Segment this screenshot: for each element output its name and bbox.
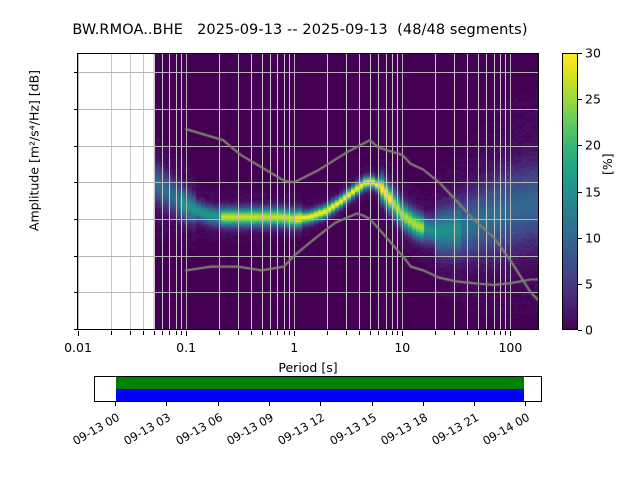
colorbar-tick: [578, 53, 582, 54]
x-axis-tick: [454, 331, 455, 335]
x-axis-tick: [78, 331, 79, 336]
x-axis-title: Period [s]: [77, 360, 539, 375]
x-axis-tick: [494, 331, 495, 335]
x-axis-tick: [386, 331, 387, 335]
x-axis-tick: [186, 331, 187, 336]
timeline-tick-label: 09-13 09: [215, 410, 276, 453]
colorbar-tick-label: 10: [585, 230, 601, 245]
x-axis-tick: [346, 331, 347, 335]
x-axis-tick: [289, 331, 290, 335]
x-axis-tick: [154, 331, 155, 335]
ppsd-figure: BW.RMOA..BHE 2025-09-13 -- 2025-09-13 (4…: [0, 0, 640, 480]
x-tick-label: 0.01: [64, 340, 92, 355]
x-axis-tick: [359, 331, 360, 335]
colorbar-tick-label: 20: [585, 138, 601, 153]
timeline-tick-label: 09-13 06: [164, 410, 225, 453]
colorbar-tick-label: 15: [585, 184, 601, 199]
x-axis-tick: [130, 331, 131, 335]
colorbar-gradient: [563, 54, 577, 329]
x-axis-tick: [486, 331, 487, 335]
timeline-tick: [115, 402, 116, 406]
x-axis-tick: [435, 331, 436, 335]
x-axis-tick: [277, 331, 278, 335]
colorbar-tick: [578, 145, 582, 146]
x-axis-tick: [181, 331, 182, 335]
colorbar-title: [%]: [600, 153, 615, 175]
data-coverage-green: [116, 377, 525, 389]
x-axis-tick: [143, 331, 144, 335]
colorbar: [562, 53, 578, 330]
x-axis-tick: [500, 331, 501, 335]
y-axis-tick: [74, 219, 78, 220]
colorbar-tick: [578, 238, 582, 239]
colorbar-tick: [578, 99, 582, 100]
x-axis-tick: [505, 331, 506, 335]
timeline-tick: [474, 402, 475, 406]
ppsd-plot-area: [78, 54, 538, 329]
y-axis-tick: [74, 109, 78, 110]
x-axis-tick: [510, 331, 511, 336]
x-axis-tick: [327, 331, 328, 335]
timeline-tick-label: 09-14 00: [472, 410, 533, 453]
page-title: BW.RMOA..BHE 2025-09-13 -- 2025-09-13 (4…: [0, 22, 600, 38]
timeline-tick: [320, 402, 321, 406]
x-tick-label: 0.1: [176, 340, 196, 355]
timeline-tick: [218, 402, 219, 406]
x-axis-tick: [162, 331, 163, 335]
x-axis-tick: [467, 331, 468, 335]
y-axis-tick: [74, 292, 78, 293]
colorbar-tick-label: 30: [585, 46, 601, 61]
x-axis-tick: [251, 331, 252, 335]
timeline-tick: [423, 402, 424, 406]
colorbar-tick: [578, 330, 582, 331]
colorbar-tick-label: 25: [585, 92, 601, 107]
colorbar-tick: [578, 192, 582, 193]
x-axis-tick: [284, 331, 285, 335]
x-tick-label: 1: [290, 340, 298, 355]
timeline-axes: [94, 376, 542, 402]
colorbar-tick: [578, 284, 582, 285]
timeline-tick: [166, 402, 167, 406]
x-tick-label: 10: [394, 340, 410, 355]
timeline-bands: [95, 377, 541, 401]
x-axis-tick: [262, 331, 263, 335]
x-axis-tick: [219, 331, 220, 335]
colorbar-tick-label: 0: [585, 323, 593, 338]
x-axis-tick: [270, 331, 271, 335]
timeline-tick: [269, 402, 270, 406]
y-axis-title: Amplitude [m²/s⁴/Hz] [dB]: [27, 21, 42, 281]
timeline-tick: [525, 402, 526, 406]
data-coverage-blue: [116, 389, 525, 401]
x-axis-tick: [238, 331, 239, 335]
y-axis-tick: [74, 256, 78, 257]
x-axis-tick: [176, 331, 177, 335]
x-axis-tick: [294, 331, 295, 336]
x-axis-tick: [392, 331, 393, 335]
timeline-tick-label: 09-13 03: [113, 410, 174, 453]
x-axis-tick: [111, 331, 112, 335]
y-axis-tick: [74, 329, 78, 330]
y-axis-tick: [74, 182, 78, 183]
x-axis-tick: [397, 331, 398, 335]
x-axis-tick: [169, 331, 170, 335]
timeline-tick-label: 09-13 21: [420, 410, 481, 453]
x-tick-label: 100: [498, 340, 522, 355]
x-axis-tick: [402, 331, 403, 336]
x-axis-tick: [478, 331, 479, 335]
x-axis-tick: [378, 331, 379, 335]
y-axis-tick: [74, 72, 78, 73]
timeline-tick-label: 09-13 18: [369, 410, 430, 453]
colorbar-tick-label: 5: [585, 276, 593, 291]
noise-model-lines-canvas: [78, 54, 538, 329]
ppsd-axes: 0.010.1110100 −200−180−160−140−120−100−8…: [77, 53, 539, 330]
timeline-tick-label: 09-13 00: [61, 410, 122, 453]
y-axis-tick: [74, 146, 78, 147]
timeline-tick-label: 09-13 15: [318, 410, 379, 453]
x-axis-tick: [370, 331, 371, 335]
timeline-tick: [372, 402, 373, 406]
timeline-tick-label: 09-13 12: [267, 410, 328, 453]
